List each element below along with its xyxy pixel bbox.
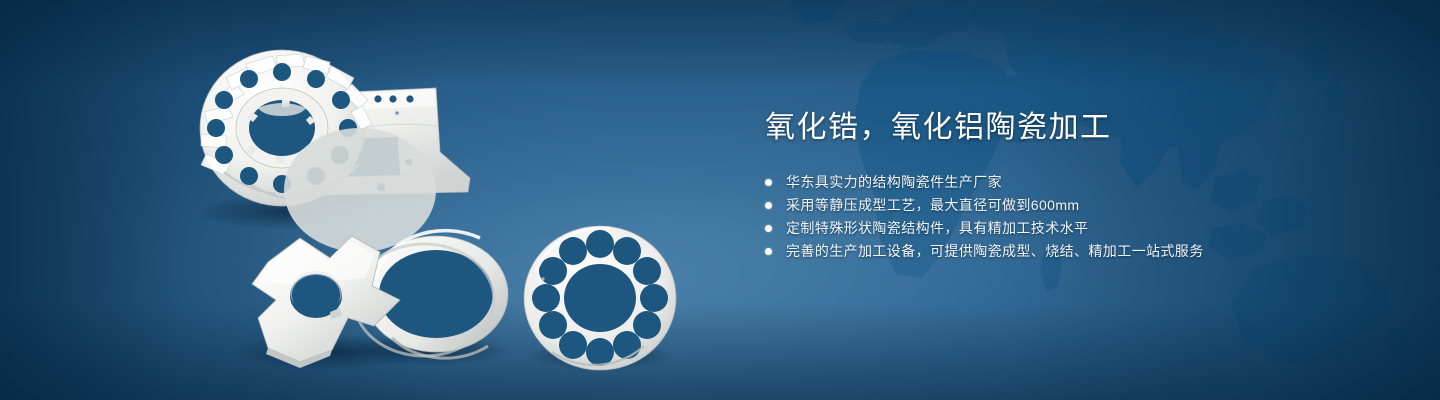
promo-banner: 氧化锆，氧化铝陶瓷加工 华东具实力的结构陶瓷件生产厂家 采用等静压成型工艺，最大…: [0, 0, 1440, 400]
ceramic-perforated-disc: [524, 226, 676, 370]
bullet-dot-icon: [765, 179, 772, 186]
banner-copy: 氧化锆，氧化铝陶瓷加工 华东具实力的结构陶瓷件生产厂家 采用等静压成型工艺，最大…: [765, 108, 1385, 263]
list-item: 完善的生产加工设备，可提供陶瓷成型、烧结、精加工一站式服务: [765, 240, 1385, 263]
list-item: 采用等静压成型工艺，最大直径可做到600mm: [765, 194, 1385, 217]
bullet-dot-icon: [765, 202, 772, 209]
list-item-label: 采用等静压成型工艺，最大直径可做到600mm: [786, 194, 1079, 217]
list-item: 定制特殊形状陶瓷结构件，具有精加工技术水平: [765, 217, 1385, 240]
ceramic-products-image: [0, 0, 760, 400]
list-item-label: 完善的生产加工设备，可提供陶瓷成型、烧结、精加工一站式服务: [786, 240, 1204, 263]
bullet-dot-icon: [765, 225, 772, 232]
bullet-dot-icon: [765, 248, 772, 255]
feature-list: 华东具实力的结构陶瓷件生产厂家 采用等静压成型工艺，最大直径可做到600mm 定…: [765, 171, 1385, 263]
list-item-label: 定制特殊形状陶瓷结构件，具有精加工技术水平: [786, 217, 1088, 240]
list-item-label: 华东具实力的结构陶瓷件生产厂家: [786, 171, 1002, 194]
list-item: 华东具实力的结构陶瓷件生产厂家: [765, 171, 1385, 194]
page-title: 氧化锆，氧化铝陶瓷加工: [765, 108, 1385, 148]
